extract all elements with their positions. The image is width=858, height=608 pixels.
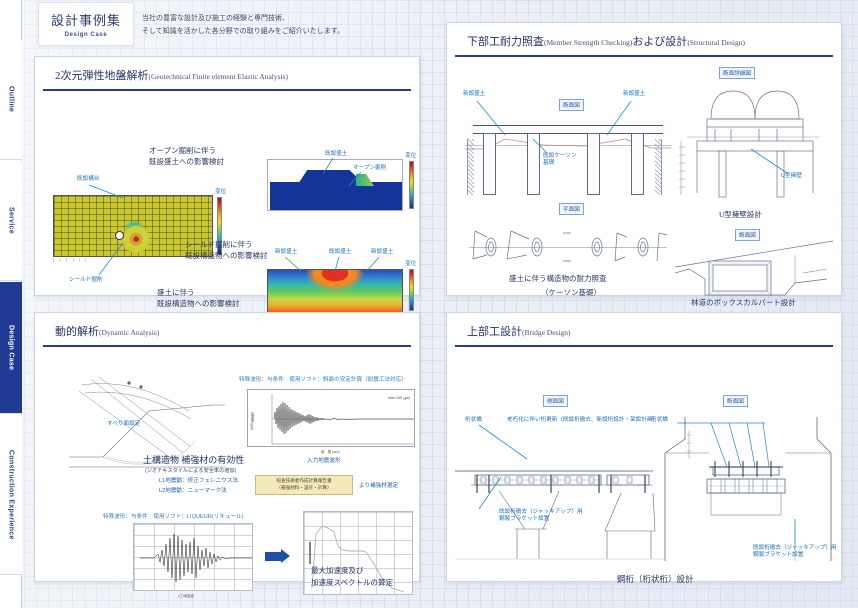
sidebar-item-label: Outline [8, 86, 15, 112]
caption-embankment-effect: 盛土に伴う既設構造物への影響検討 [157, 287, 240, 310]
caption-open-excavation: オープン掘削に伴う既設盛土への影響検討 [149, 145, 224, 168]
liqueur-waveform [134, 524, 252, 590]
report-reference-box: 照査技術者作成計算報告書 （補強材料・設計・計算） [255, 475, 353, 495]
caption-caisson-line2: （ケーソン基礎） [541, 287, 601, 298]
caption-u-wall: U型擁壁設計 [719, 209, 762, 220]
chart-ylabel: 加速度 (gal) [250, 412, 255, 430]
leader-shield-excavation [93, 241, 129, 279]
panel-title-substructure: 下部工耐力照査(Member Strength Checking)および設計(S… [455, 23, 833, 57]
leader-existing-deck [85, 183, 131, 201]
chart-liqueur-input [133, 523, 253, 591]
panel-dynamic-analysis: 動的解析(Dynamic Analysis) すべり面設定 土構造物 補強材の有… [34, 312, 420, 582]
panel-title-jp-1: 下部工耐力照査 [467, 36, 544, 48]
panel-title-en-2: (Structural Design) [687, 38, 745, 47]
panel-title-jp-2: および設計 [632, 36, 687, 48]
leader-existing-caisson [529, 137, 553, 157]
panel-title-jp: 動的解析 [55, 326, 99, 338]
caisson-pier-4 [631, 133, 644, 195]
caption-bridge: 鋼桁（桁状桁）設計 [617, 573, 694, 586]
panel-title-bridge: 上部工設計(Bridge Design) [455, 313, 833, 347]
heading-reinforcement: 土構造物 補強材の有効性 [143, 453, 244, 466]
shield-tunnel-circle [115, 231, 124, 240]
panel-bridge-design: 上部工設計(Bridge Design) 側面図 断面図 桁状橋 老朽化に伴い桁… [446, 312, 842, 582]
label-displacement-top-right: 変位 [405, 153, 416, 160]
header-description: 当社の豊富な設計及び施工の経験と専門技術、 そして知識を活かした各分野での取り組… [142, 12, 344, 39]
caption-caisson-line1: 盛土に伴う構造物の耐力照査 [509, 273, 607, 284]
caption-liqueur-output-line1: 最大加速度及び [311, 565, 364, 576]
panel-title-en-1: (Member Strength Checking) [544, 38, 632, 47]
caption-liqueur-output-line2: 加速度スペクトルの算定 [311, 577, 393, 588]
condition-liqueur: 特殊波形：与条件 使用ソフト：LIQUEUR(リキュール) [103, 512, 243, 520]
panel-title-en: (Dynamic Analysis) [99, 328, 159, 337]
chart-input-seismic-wave: Max=265 (gal) 加速度 (gal) [247, 389, 415, 447]
caisson-pier-1 [483, 133, 496, 195]
sidebar-item-label: Design Case [8, 325, 15, 370]
retaining-hatch-right [655, 139, 662, 195]
sidebar-item-outline[interactable]: Outline [0, 40, 22, 160]
panel-substructure-design: 下部工耐力照査(Member Strength Checking)および設計(S… [446, 22, 842, 296]
leaders-embankment-mesh [271, 255, 401, 275]
panel-body-substructure: 断面図 新設盛土 新設盛土 既設ケーソン基礎 平面図 [447, 57, 841, 299]
method-l2: L2地震動：ニューマーク法 [159, 487, 227, 496]
report-box-line1: 照査技術者作成計算報告書 [276, 478, 331, 483]
sub-reinforcement: (ジオテキスタイルによる安全率の増加) [145, 467, 236, 474]
view-label-side: 側面図 [543, 395, 568, 407]
sidebar-item-label: Construction Experience [8, 450, 15, 540]
panel-body-dynamic: すべり面設定 土構造物 補強材の有効性 (ジオテキスタイルによる安全率の増加) … [35, 347, 419, 585]
label-existing-deck: 既設構台 [77, 176, 99, 183]
embankment-body [270, 182, 402, 210]
label-new-embankment-right-sub: 新設盛土 [623, 91, 645, 98]
plan-view-drawing [467, 225, 673, 271]
caption-box-culvert: 林道のボックスカルバート設計 [691, 297, 796, 308]
panel-title-geotechnical: 2次元弾性地盤解析(Geotechnical Finite element El… [43, 57, 411, 91]
label-slip-surface: すべり面設定 [107, 421, 140, 428]
view-label-cross: 断面図 [723, 395, 748, 407]
view-label-section: 断面図 [559, 99, 584, 111]
header-description-line1: 当社の豊富な設計及び施工の経験と専門技術、 [142, 12, 344, 25]
panel-title-jp: 上部工設計 [467, 326, 522, 338]
colorbar-displacement-bottom-right [409, 269, 414, 311]
page-title: 設計事例集 [51, 10, 121, 29]
retaining-hatch-left [467, 139, 474, 195]
chart-xlabel: 時 間 (sec) [321, 449, 340, 454]
colorbar-displacement-top-right [409, 161, 414, 209]
panel-geotechnical-analysis: 2次元弾性地盤解析(Geotechnical Finite element El… [34, 56, 420, 296]
sidebar-item-service[interactable]: Service [0, 161, 22, 281]
caption-input-seismic-wave: 入力地震波形 [307, 457, 341, 466]
caisson-pier-3 [587, 133, 600, 195]
box-culvert-drawing [675, 239, 835, 301]
view-label-section-detail: 断面詳細図 [719, 67, 755, 79]
sidebar-item-design-case[interactable]: Design Case [0, 282, 22, 414]
leader-u-wall [747, 147, 791, 177]
leader-new-embankment-left [469, 99, 513, 139]
header-description-line2: そして知識を活かした各分野での取り組みをご紹介いたします。 [142, 25, 344, 38]
panel-title-en: (Bridge Design) [522, 328, 571, 337]
leader-open-cut [347, 171, 369, 189]
sidebar-item-label: Service [8, 207, 15, 234]
panel-body-geotechnical: オープン掘削に伴う既設盛土への影響検討 | | | | | | 変位 既設構台 … [35, 91, 419, 299]
bridge-cross-view [645, 411, 835, 561]
report-note: より補強材選定 [359, 482, 398, 491]
label-displacement-left: 変位 [215, 189, 226, 196]
figure-embankment-mesh [267, 269, 403, 313]
chart-series-label: Max=265 (gal) [388, 396, 410, 400]
sidebar-item-construction-experience[interactable]: Construction Experience [0, 415, 22, 575]
report-box-line2: （補強材料・設計・計算） [276, 485, 331, 490]
panel-title-en: (Geotechnical Finite element Elastic Ana… [149, 72, 289, 81]
label-side-bracket: 既設桁撤去（ジャッキアップ）用鋼製ブラケット設置 [499, 509, 583, 523]
leader-existing-embankment [321, 157, 347, 177]
flow-arrow-body [265, 552, 281, 561]
sidebar-nav: Outline Service Design Case Construction… [0, 0, 22, 608]
page-title-card: 設計事例集 Design Case [38, 2, 134, 46]
page-title-en: Design Case [65, 32, 108, 38]
label-new-embankment-left-sub: 新設盛土 [463, 91, 485, 98]
condition-seismic-wave: 特殊波形：与条件 使用ソフト：斜面の安定計算（耐震工法対応） [239, 375, 407, 383]
flow-arrow-head [281, 549, 290, 563]
view-label-plan: 平面図 [559, 203, 584, 215]
leader-side-girder [477, 423, 531, 463]
leader-new-embankment-right [603, 99, 639, 139]
label-cross-bracket: 既設桁撤去（ジャッキアップ）用鋼製ブラケット設置 [753, 545, 837, 559]
panel-body-bridge: 側面図 断面図 桁状橋 老朽化に伴い桁更新（既設桁撤去、新設桁設計・架設計画） [447, 347, 841, 585]
label-displacement-bottom-right: 変位 [405, 261, 416, 268]
leader-side-bracket [475, 475, 509, 513]
mesh-axis-ticks: | | | | | | [53, 258, 86, 262]
u-wall-drawing [677, 83, 827, 203]
panel-title-jp: 2次元弾性地盤解析 [55, 70, 149, 82]
panel-title-dynamic: 動的解析(Dynamic Analysis) [43, 313, 411, 347]
caption-shield-excavation: シールド掘削に伴う既設構造物への影響検討 [185, 239, 268, 262]
method-l1: L1地震動：修正フェレニウス法 [159, 477, 238, 486]
chart-liqueur-input-label: 入力地震波 [177, 593, 194, 598]
